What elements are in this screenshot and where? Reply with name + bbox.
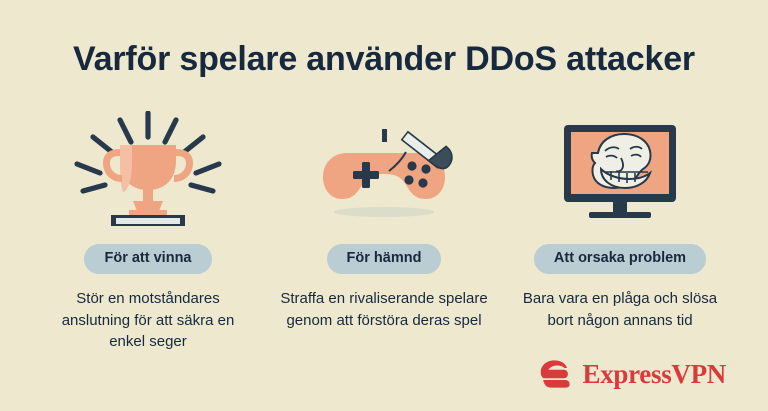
reason-column-win: För att vinna Stör en motståndares anslu…: [30, 108, 266, 352]
expressvpn-wordmark: ExpressVPN: [582, 361, 726, 388]
gamepad-knife-icon: [299, 111, 469, 226]
page-title: Varför spelare använder DDoS attacker: [0, 40, 768, 79]
expressvpn-e-mark-icon: [539, 357, 573, 391]
reason-column-revenge: För hämnd Straffa en rivaliserande spela…: [266, 108, 502, 331]
monitor-trollface-icon: [535, 111, 705, 226]
monitor-icon-slot: [535, 108, 705, 226]
trophy-icon: [63, 111, 233, 226]
gamepad-icon-slot: [299, 108, 469, 226]
reasons-row: För att vinna Stör en motståndares anslu…: [0, 108, 768, 352]
infographic-canvas: Varför spelare använder DDoS attacker: [0, 0, 768, 411]
expressvpn-logo: ExpressVPN: [539, 357, 726, 391]
reason-column-trouble: Att orsaka problem Bara vara en plåga oc…: [502, 108, 738, 331]
description-win: Stör en motståndares anslutning för att …: [43, 288, 253, 352]
badge-revenge: För hämnd: [327, 244, 442, 274]
trophy-icon-slot: [63, 108, 233, 226]
badge-win: För att vinna: [84, 244, 211, 274]
description-trouble: Bara vara en plåga och slösa bort någon …: [515, 288, 725, 331]
badge-trouble: Att orsaka problem: [534, 244, 706, 274]
description-revenge: Straffa en rivaliserande spelare genom a…: [279, 288, 489, 331]
